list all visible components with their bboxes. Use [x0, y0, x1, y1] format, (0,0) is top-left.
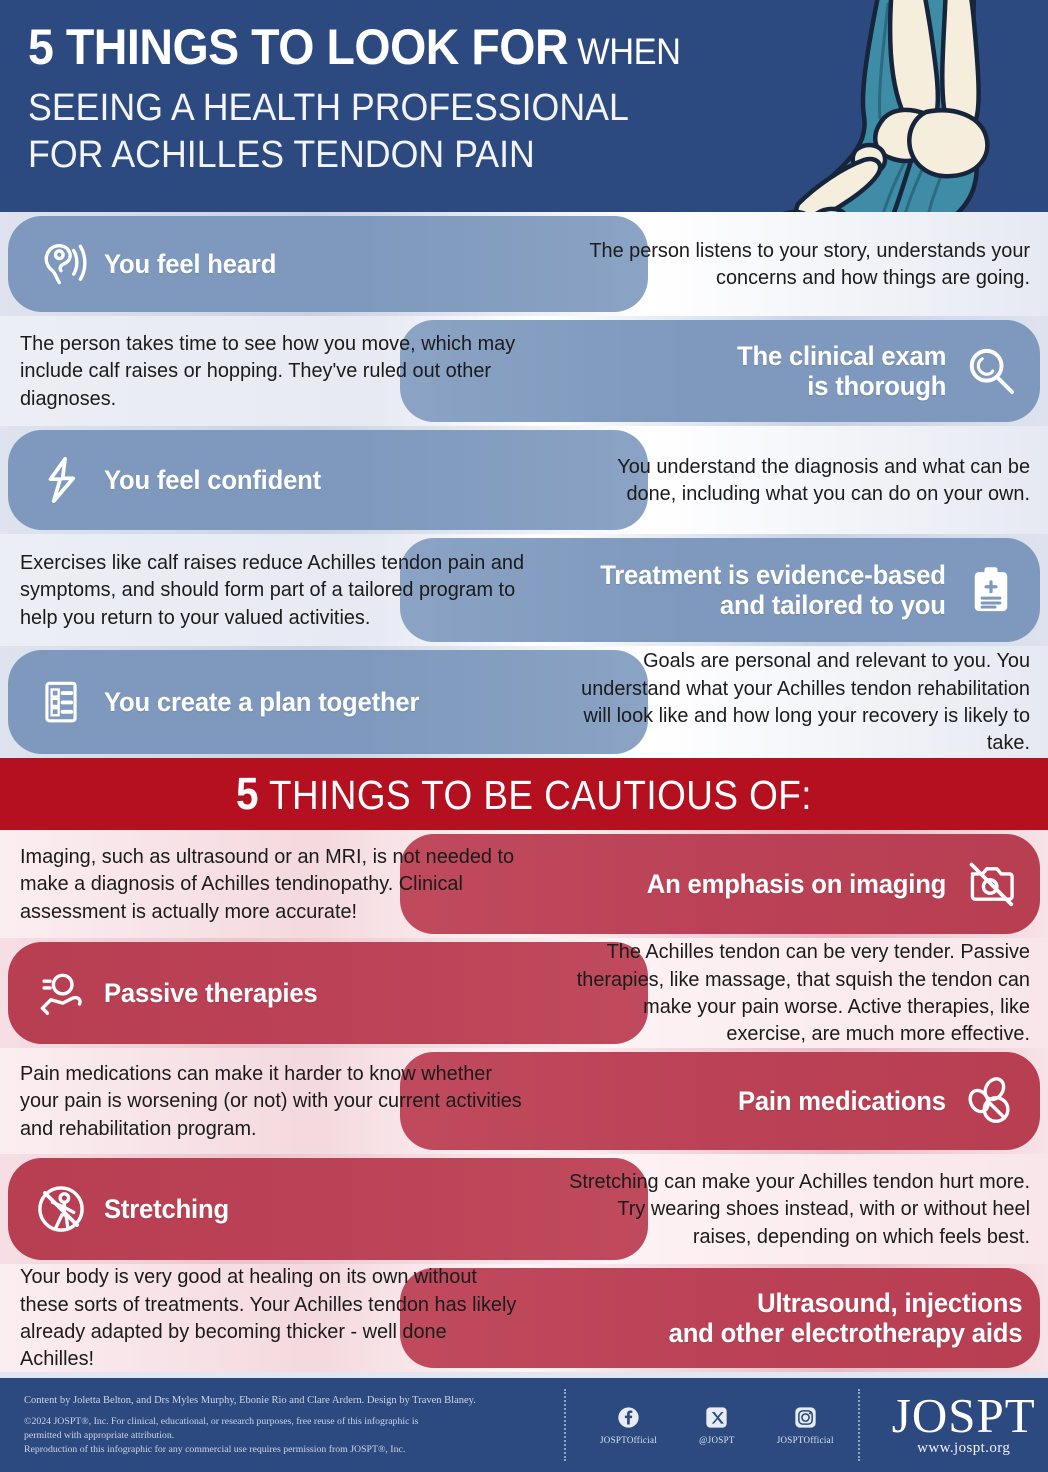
row-create-plan-together: You create a plan together Goals are per…	[0, 646, 1048, 758]
description-emphasis-on-imaging: Imaging, such as ultrasound or an MRI, i…	[20, 830, 524, 938]
jospt-brand[interactable]: JOSPT www.jospt.org	[892, 1393, 1036, 1458]
description-pain-medications: Pain medications can make it harder to k…	[20, 1048, 524, 1154]
row-ultrasound-injections: Ultrasound, injections and other electro…	[0, 1264, 1048, 1372]
footer-credits-block: Content by Joletta Belton, and Drs Myles…	[0, 1394, 560, 1457]
row-pain-medications: Pain medications Pain medications can ma…	[0, 1048, 1048, 1154]
description-create-plan-together: Goals are personal and relevant to you. …	[566, 646, 1030, 758]
description-stretching: Stretching can make your Achilles tendon…	[566, 1154, 1030, 1264]
ear-sound-icon	[30, 233, 92, 295]
footer-copyright-line-1: ©2024 JOSPT®, Inc. For clinical, educati…	[24, 1415, 560, 1429]
pills-icon	[960, 1070, 1022, 1132]
social-handle: @JOSPT	[699, 1435, 735, 1445]
caution-section: An emphasis on imaging Imaging, such as …	[0, 830, 1048, 1372]
checklist-form-icon	[30, 671, 92, 733]
description-clinical-exam: The person takes time to see how you mov…	[20, 316, 524, 426]
page-title-strong: 5 THINGS TO LOOK FOR	[28, 19, 568, 75]
pill-label: You feel confident	[104, 465, 321, 495]
row-treatment-evidence-based: Treatment is evidence-based and tailored…	[0, 534, 1048, 646]
caution-banner-label: THINGS TO BE CAUTIOUS OF:	[259, 772, 812, 818]
pill-label: You feel heard	[104, 249, 276, 279]
social-links: JOSPTOfficial @JOSPT JOSPTOfficial	[592, 1405, 834, 1445]
header: 5 THINGS TO LOOK FOR WHEN SEEING A HEALT…	[0, 0, 1048, 212]
x-twitter-icon	[704, 1405, 729, 1430]
description-treatment-evidence-based: Exercises like calf raises reduce Achill…	[20, 534, 524, 646]
social-handle: JOSPTOfficial	[777, 1435, 834, 1445]
caution-banner-text: 5 THINGS TO BE CAUTIOUS OF:	[236, 768, 812, 820]
pill-label: Treatment is evidence-based and tailored…	[600, 560, 946, 620]
pill-you-feel-confident: You feel confident	[8, 430, 648, 530]
facebook-icon	[616, 1405, 641, 1430]
footer-divider-right	[858, 1389, 860, 1461]
row-you-feel-heard: You feel heard The person listens to you…	[0, 212, 1048, 316]
pill-label: Ultrasound, injections and other electro…	[668, 1288, 1022, 1348]
no-stretching-icon	[30, 1178, 92, 1240]
jospt-website-url: www.jospt.org	[917, 1440, 1010, 1457]
achilles-foot-illustration	[768, 0, 1038, 212]
social-link-x[interactable]: @JOSPT	[699, 1405, 735, 1445]
page-title-when: WHEN	[568, 31, 680, 72]
page-title-line-1: 5 THINGS TO LOOK FOR WHEN	[28, 22, 735, 73]
jospt-logo-text: JOSPT	[892, 1393, 1036, 1440]
pill-label: You create a plan together	[104, 687, 419, 717]
social-link-facebook[interactable]: JOSPTOfficial	[600, 1405, 657, 1445]
footer-copyright-line-3: Reproduction of this infographic for any…	[24, 1443, 560, 1457]
caution-banner-number: 5	[236, 768, 259, 819]
row-stretching: Stretching Stretching can make your Achi…	[0, 1154, 1048, 1264]
social-handle: JOSPTOfficial	[600, 1435, 657, 1445]
footer-credit: Content by Joletta Belton, and Drs Myles…	[24, 1394, 560, 1408]
no-camera-icon	[960, 853, 1022, 915]
footer: Content by Joletta Belton, and Drs Myles…	[0, 1378, 1048, 1472]
lightning-bolt-icon	[30, 449, 92, 511]
description-ultrasound-injections: Your body is very good at healing on its…	[20, 1264, 524, 1372]
infographic-page: 5 THINGS TO LOOK FOR WHEN SEEING A HEALT…	[0, 0, 1048, 1472]
look-for-section: You feel heard The person listens to you…	[0, 212, 1048, 758]
description-you-feel-confident: You understand the diagnosis and what ca…	[566, 426, 1030, 534]
person-lying-massage-icon	[30, 962, 92, 1024]
pill-label: The clinical exam is thorough	[737, 341, 946, 401]
page-title-line-2: SEEING A HEALTH PROFESSIONAL	[28, 87, 742, 130]
description-you-feel-heard: The person listens to your story, unders…	[566, 212, 1030, 316]
header-title-block: 5 THINGS TO LOOK FOR WHEN SEEING A HEALT…	[28, 22, 788, 176]
pill-label: Passive therapies	[104, 978, 318, 1008]
pill-stretching: Stretching	[8, 1158, 648, 1260]
row-you-feel-confident: You feel confident You understand the di…	[0, 426, 1048, 534]
pill-create-plan-together: You create a plan together	[8, 650, 648, 754]
row-emphasis-on-imaging: An emphasis on imaging Imaging, such as …	[0, 830, 1048, 938]
pill-passive-therapies: Passive therapies	[8, 942, 648, 1044]
pill-you-feel-heard: You feel heard	[8, 216, 648, 312]
magnifier-icon	[960, 340, 1022, 402]
social-link-instagram[interactable]: JOSPTOfficial	[777, 1405, 834, 1445]
description-passive-therapies: The Achilles tendon can be very tender. …	[566, 938, 1030, 1048]
page-title-line-3: FOR ACHILLES TENDON PAIN	[28, 134, 742, 177]
footer-divider-left	[564, 1389, 566, 1461]
pill-label: Stretching	[104, 1194, 229, 1224]
row-clinical-exam: The clinical exam is thorough The person…	[0, 316, 1048, 426]
pill-label: An emphasis on imaging	[647, 869, 946, 899]
clipboard-medical-icon	[960, 559, 1022, 621]
row-passive-therapies: Passive therapies The Achilles tendon ca…	[0, 938, 1048, 1048]
instagram-icon	[793, 1405, 818, 1430]
caution-banner: 5 THINGS TO BE CAUTIOUS OF:	[0, 758, 1048, 830]
footer-copyright-line-2: permitted with appropriate attribution.	[24, 1429, 560, 1443]
pill-label: Pain medications	[738, 1086, 946, 1116]
